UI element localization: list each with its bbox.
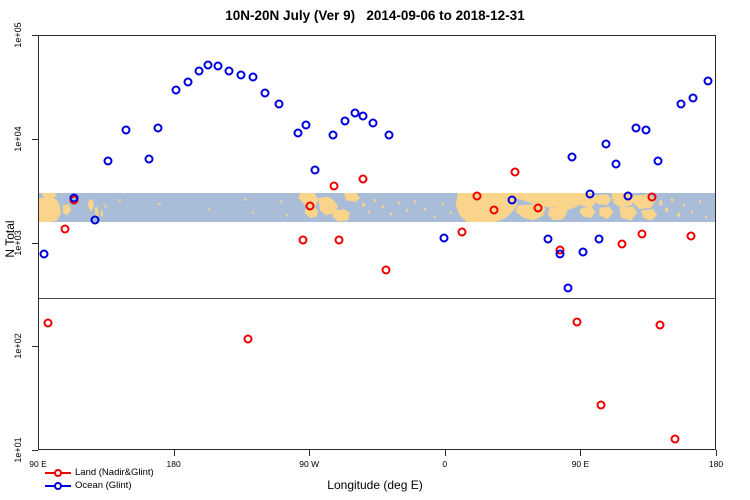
data-point-ocean [624, 191, 633, 200]
data-point-ocean [310, 166, 319, 175]
data-point-ocean [144, 155, 153, 164]
legend: Land (Nadir&Glint) Ocean (Glint) [45, 466, 154, 492]
y-tick-mark [32, 346, 38, 347]
data-point-land [458, 227, 467, 236]
legend-item-ocean: Ocean (Glint) [45, 479, 154, 492]
y-tick-mark [32, 139, 38, 140]
data-point-ocean [358, 111, 367, 120]
data-point-ocean [184, 78, 193, 87]
data-point-ocean [369, 119, 378, 128]
data-point-ocean [172, 86, 181, 95]
y-tick-label: 1e+01 [13, 437, 23, 462]
x-tick-label: 90 E [572, 459, 590, 469]
data-point-ocean [595, 235, 604, 244]
data-point-ocean [69, 193, 78, 202]
world-map-strip [39, 193, 715, 223]
data-point-land [358, 174, 367, 183]
data-point-ocean [301, 120, 310, 129]
latitude-map-band [39, 193, 715, 223]
data-point-land [596, 400, 605, 409]
data-point-land [670, 435, 679, 444]
data-point-land [244, 335, 253, 344]
data-point-ocean [214, 62, 223, 71]
legend-label-land: Land (Nadir&Glint) [75, 467, 154, 478]
x-tick-label: 180 [167, 459, 181, 469]
data-point-land [637, 229, 646, 238]
y-tick-mark [32, 450, 38, 451]
data-point-ocean [688, 94, 697, 103]
data-point-ocean [654, 156, 663, 165]
legend-marker-ocean-icon [45, 480, 71, 491]
x-tick-mark [580, 450, 581, 456]
x-tick-mark [716, 450, 717, 456]
data-point-ocean [236, 71, 245, 80]
data-point-ocean [90, 215, 99, 224]
y-tick-mark [32, 243, 38, 244]
data-point-land [511, 167, 520, 176]
data-point-land [473, 191, 482, 200]
data-point-ocean [122, 125, 131, 134]
data-point-ocean [676, 100, 685, 109]
data-point-ocean [203, 61, 212, 70]
y-tick-label: 1e+04 [13, 126, 23, 151]
data-point-land [618, 239, 627, 248]
data-point-ocean [248, 73, 257, 82]
scatter-plot-figure: 10N-20N July (Ver 9) 2014-09-06 to 2018-… [0, 0, 750, 500]
legend-marker-land-icon [45, 467, 71, 478]
page-title: 10N-20N July (Ver 9) 2014-09-06 to 2018-… [0, 8, 750, 23]
data-point-ocean [631, 123, 640, 132]
data-point-ocean [544, 235, 553, 244]
data-point-ocean [261, 89, 270, 98]
data-point-land [44, 319, 53, 328]
data-point-ocean [642, 125, 651, 134]
data-point-ocean [703, 76, 712, 85]
legend-item-land: Land (Nadir&Glint) [45, 466, 154, 479]
data-point-ocean [194, 66, 203, 75]
data-point-land [687, 231, 696, 240]
data-point-ocean [440, 234, 449, 243]
data-point-ocean [328, 131, 337, 140]
data-point-ocean [586, 189, 595, 198]
data-point-land [655, 320, 664, 329]
data-point-ocean [224, 66, 233, 75]
x-tick-mark [445, 450, 446, 456]
y-tick-label: 1e+05 [13, 22, 23, 47]
data-point-ocean [104, 157, 113, 166]
data-point-ocean [508, 195, 517, 204]
y-axis-label: N Total [3, 209, 17, 269]
plot-area [38, 35, 716, 450]
legend-label-ocean: Ocean (Glint) [75, 480, 132, 491]
data-point-ocean [294, 129, 303, 138]
data-point-ocean [601, 139, 610, 148]
data-point-ocean [274, 100, 283, 109]
data-point-ocean [384, 131, 393, 140]
data-point-land [648, 193, 657, 202]
data-point-land [381, 265, 390, 274]
data-point-ocean [578, 247, 587, 256]
data-point-ocean [556, 250, 565, 259]
data-point-land [60, 225, 69, 234]
data-point-land [490, 206, 499, 215]
x-tick-label: 0 [442, 459, 447, 469]
y-tick-mark [32, 35, 38, 36]
data-point-ocean [612, 160, 621, 169]
data-point-land [306, 201, 315, 210]
data-point-land [334, 235, 343, 244]
x-tick-mark [174, 450, 175, 456]
data-point-ocean [563, 284, 572, 293]
data-point-ocean [154, 123, 163, 132]
data-point-ocean [39, 249, 48, 258]
reference-hline [39, 298, 715, 299]
y-tick-label: 1e+02 [13, 334, 23, 359]
data-point-land [533, 203, 542, 212]
data-point-ocean [340, 117, 349, 126]
data-point-land [298, 236, 307, 245]
data-point-land [330, 181, 339, 190]
data-point-land [572, 318, 581, 327]
x-tick-label: 180 [709, 459, 723, 469]
x-tick-mark [309, 450, 310, 456]
x-tick-label: 90 W [299, 459, 319, 469]
data-point-ocean [568, 153, 577, 162]
